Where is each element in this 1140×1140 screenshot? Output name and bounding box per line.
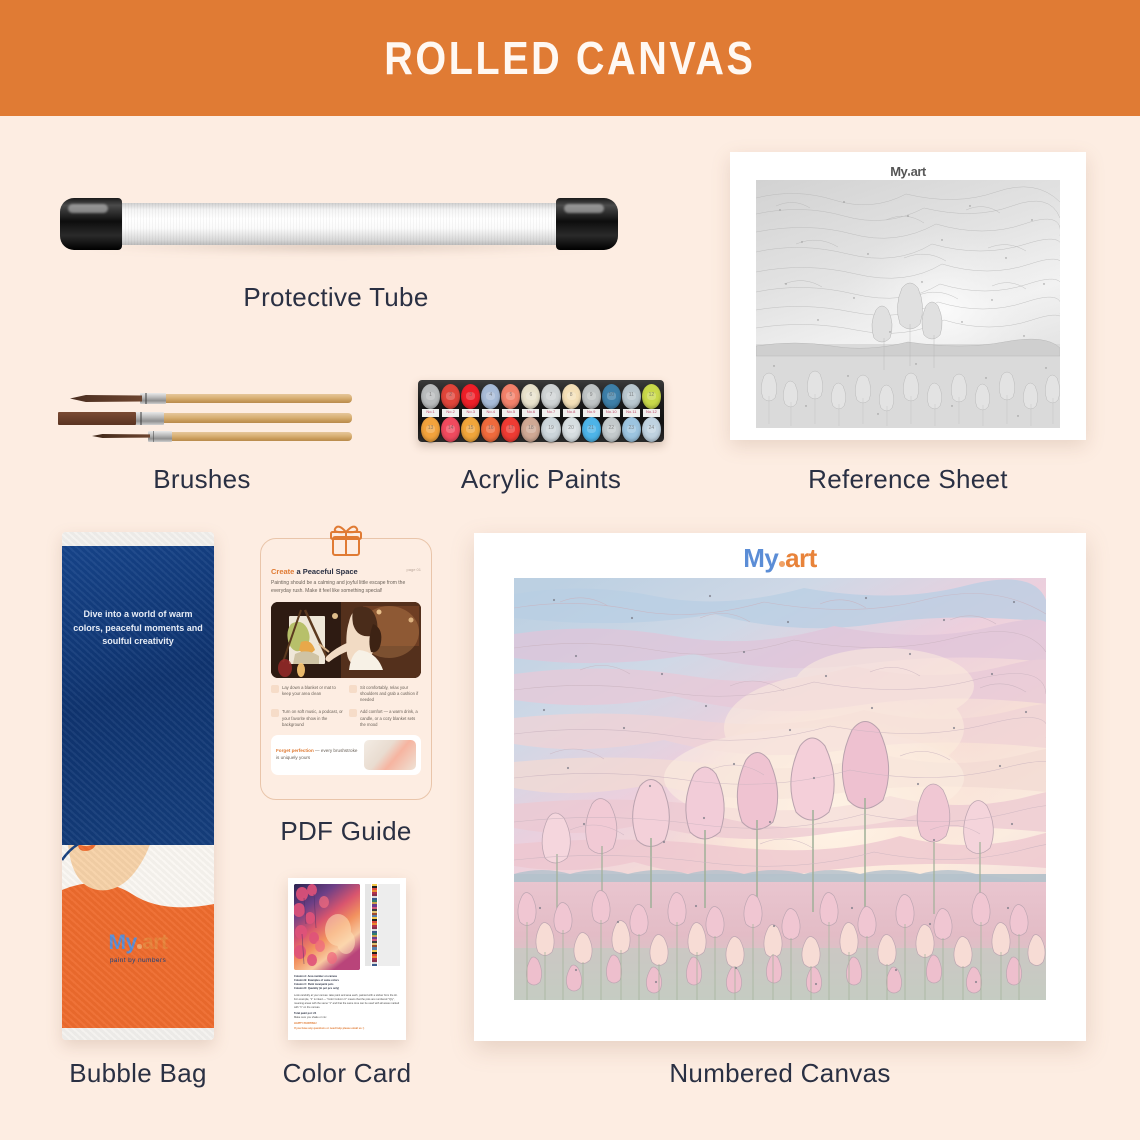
paint-pot-number: 15	[461, 425, 480, 431]
tip-posture-icon	[349, 685, 357, 693]
paint-number-label: No.11	[623, 409, 640, 417]
color-card-image: Column A: Area number on canvas Column B…	[288, 878, 406, 1040]
brushes-image	[52, 392, 352, 448]
paint-pot: 22	[602, 417, 621, 442]
cc-swatch	[372, 964, 377, 966]
paint-pot-number: 18	[521, 425, 540, 431]
paint-pot-number: 10	[602, 392, 621, 398]
tube-cap-left	[60, 198, 122, 250]
bag-top-seal	[62, 532, 214, 546]
caption-acrylic-paints: Acrylic Paints	[418, 464, 664, 495]
pdf-heading-rest: a Peaceful Space	[294, 567, 357, 576]
paint-pot-number: 8	[562, 392, 581, 398]
bag-navy-panel	[62, 542, 214, 872]
paint-pot: 3	[461, 384, 480, 409]
pdf-heading: page 01 Create a Peaceful Space	[271, 567, 421, 576]
reference-sheet-artwork	[756, 180, 1060, 428]
caption-bubble-bag: Bubble Bag	[40, 1058, 236, 1089]
color-card-artwork	[294, 884, 360, 970]
pdf-callout-photo	[364, 740, 416, 770]
reference-sheet-logo: Myart	[740, 162, 1076, 182]
paint-pot-number: 1	[421, 392, 440, 398]
callout-bold: Forget perfection	[276, 748, 314, 753]
paint-pot-number: 12	[642, 392, 661, 398]
paint-pot-number: 3	[461, 392, 480, 398]
paint-pot: 21	[582, 417, 601, 442]
paint-pot: 19	[541, 417, 560, 442]
paint-number-label: No.7	[542, 409, 559, 417]
paint-pot-number: 11	[622, 392, 641, 398]
pdf-callout: Forget perfection — every brushstroke is…	[271, 735, 421, 775]
canvas-logo-dot	[779, 561, 785, 567]
paint-pot-number: 14	[441, 425, 460, 431]
paint-pot: 11	[622, 384, 641, 409]
protective-tube-image	[60, 196, 618, 256]
paint-pot-number: 16	[481, 425, 500, 431]
bag-logo-art: art	[142, 931, 167, 954]
paint-number-label: No.3	[462, 409, 479, 417]
tip-blanket-icon	[271, 685, 279, 693]
paint-pot: 9	[582, 384, 601, 409]
paint-pot: 13	[421, 417, 440, 442]
cc-area-number	[365, 964, 371, 966]
paint-pot-number: 4	[481, 392, 500, 398]
header-banner: ROLLED CANVAS	[0, 0, 1140, 116]
paint-pot-number: 2	[441, 392, 460, 398]
caption-pdf-guide: PDF Guide	[260, 816, 432, 847]
paint-label-strip: No.1No.2No.3No.4No.5No.6No.7No.8No.9No.1…	[421, 409, 661, 417]
paint-pot: 16	[481, 417, 500, 442]
paint-pot-number: 21	[582, 425, 601, 431]
pdf-tips-list: Lay down a blanket or mat to keep your a…	[271, 685, 421, 729]
paint-number-label: No.12	[643, 409, 660, 417]
logo-art: art	[911, 164, 926, 179]
tip-comfort-icon	[349, 709, 357, 717]
paint-pot: 17	[501, 417, 520, 442]
paint-number-label: No.4	[482, 409, 499, 417]
bag-logo: Myart	[62, 932, 214, 954]
paint-pot-number: 13	[421, 425, 440, 431]
color-card-row	[365, 964, 400, 966]
caption-color-card: Color Card	[258, 1058, 436, 1089]
paint-pot: 4	[481, 384, 500, 409]
paint-pot: 14	[441, 417, 460, 442]
paint-pot: 18	[521, 417, 540, 442]
paint-number-label: No.5	[502, 409, 519, 417]
color-card-top	[294, 884, 400, 970]
paint-pot: 23	[622, 417, 641, 442]
pdf-tip-item: Lay down a blanket or mat to keep your a…	[271, 685, 343, 704]
tip-music-icon	[271, 709, 279, 717]
paint-pot: 20	[562, 417, 581, 442]
paint-pot-number: 9	[582, 392, 601, 398]
pdf-tip-item: Add comfort — a warm drink, a candle, or…	[349, 709, 421, 728]
color-card-swatch-table	[365, 884, 400, 970]
paint-pot: 15	[461, 417, 480, 442]
pdf-heading-highlight: Create	[271, 567, 294, 576]
canvas-logo-my: My	[743, 543, 778, 573]
cc-color-name	[378, 964, 400, 966]
paint-number-label: No.9	[583, 409, 600, 417]
product-infographic: ROLLED CANVAS Protective Tube Brushes 12…	[0, 0, 1140, 1140]
tip-text: Sit comfortably, relax your shoulders an…	[360, 685, 421, 704]
paint-pot: 12	[642, 384, 661, 409]
numbered-canvas-image: Myart	[474, 533, 1086, 1041]
paint-row-top: 123456789101112	[421, 384, 661, 409]
logo-my: My	[890, 164, 907, 179]
paint-number-label: No.6	[522, 409, 539, 417]
paint-pot: 2	[441, 384, 460, 409]
pdf-tip-item: Sit comfortably, relax your shoulders an…	[349, 685, 421, 704]
canvas-artwork	[514, 578, 1046, 1000]
bag-tagline: Dive into a world of warm colors, peacef…	[72, 608, 204, 649]
paint-pot-number: 17	[501, 425, 520, 431]
bag-logo-my: My	[109, 931, 137, 954]
pdf-page-label: page 01	[407, 567, 421, 572]
canvas-logo: Myart	[474, 545, 1086, 572]
cc-line: Column D: Quantity (in pot pcs only)	[294, 987, 400, 991]
paint-number-label: No.10	[603, 409, 620, 417]
brush-flat	[54, 412, 352, 425]
pdf-photo	[271, 602, 421, 678]
bag-bottom-seal	[62, 1028, 214, 1040]
paint-number-label: No.8	[563, 409, 580, 417]
cc-line: If you have any questions or need help p…	[294, 1027, 400, 1031]
tube-body	[74, 203, 604, 245]
paint-pot-number: 19	[541, 425, 560, 431]
gift-icon	[329, 523, 363, 562]
brush-round	[62, 394, 352, 403]
paint-pot-number: 6	[521, 392, 540, 398]
paint-pot-number: 7	[541, 392, 560, 398]
color-card-instructions: Column A: Area number on canvas Column B…	[294, 975, 400, 1031]
paint-number-label: No.1	[422, 409, 439, 417]
acrylic-paints-image: 123456789101112 No.1No.2No.3No.4No.5No.6…	[418, 380, 664, 442]
paint-pot-number: 24	[642, 425, 661, 431]
paint-number-label: No.2	[442, 409, 459, 417]
paint-pot: 7	[541, 384, 560, 409]
tip-text: Turn on soft music, a podcast, or your f…	[282, 709, 343, 728]
brush-detail	[82, 432, 352, 441]
pdf-tip-item: Turn on soft music, a podcast, or your f…	[271, 709, 343, 728]
caption-reference-sheet: Reference Sheet	[730, 464, 1086, 495]
tube-cap-right	[556, 198, 618, 250]
caption-numbered-canvas: Numbered Canvas	[474, 1058, 1086, 1089]
pdf-callout-text: Forget perfection — every brushstroke is…	[276, 748, 359, 762]
paint-pot: 10	[602, 384, 621, 409]
paint-pot: 8	[562, 384, 581, 409]
cc-line: Make sure you shake or mix	[294, 1016, 400, 1020]
pdf-guide-image: page 01 Create a Peaceful Space Painting…	[260, 538, 432, 800]
paint-row-bottom: 131415161718192021222324	[421, 417, 661, 442]
paint-pot-number: 20	[562, 425, 581, 431]
paint-pot: 6	[521, 384, 540, 409]
page-title: ROLLED CANVAS	[384, 31, 755, 85]
reference-sheet-image: Myart	[730, 152, 1086, 440]
caption-brushes: Brushes	[52, 464, 352, 495]
tip-text: Add comfort — a warm drink, a candle, or…	[360, 709, 421, 728]
caption-protective-tube: Protective Tube	[180, 282, 492, 313]
bubble-bag-image: Dive into a world of warm colors, peacef…	[62, 532, 214, 1040]
tip-text: Lay down a blanket or mat to keep your a…	[282, 685, 343, 704]
bag-logo-tagline: paint by numbers	[62, 957, 214, 964]
canvas-logo-art: art	[785, 543, 817, 573]
paint-pot-number: 23	[622, 425, 641, 431]
paint-pot-number: 5	[501, 392, 520, 398]
pdf-body-text: Painting should be a calming and joyful …	[271, 580, 421, 596]
cc-line: Look carefully at your canvas: take pain…	[294, 994, 400, 1011]
paint-pot: 5	[501, 384, 520, 409]
paint-pot-number: 22	[602, 425, 621, 431]
paint-pot: 24	[642, 417, 661, 442]
paint-pot: 1	[421, 384, 440, 409]
